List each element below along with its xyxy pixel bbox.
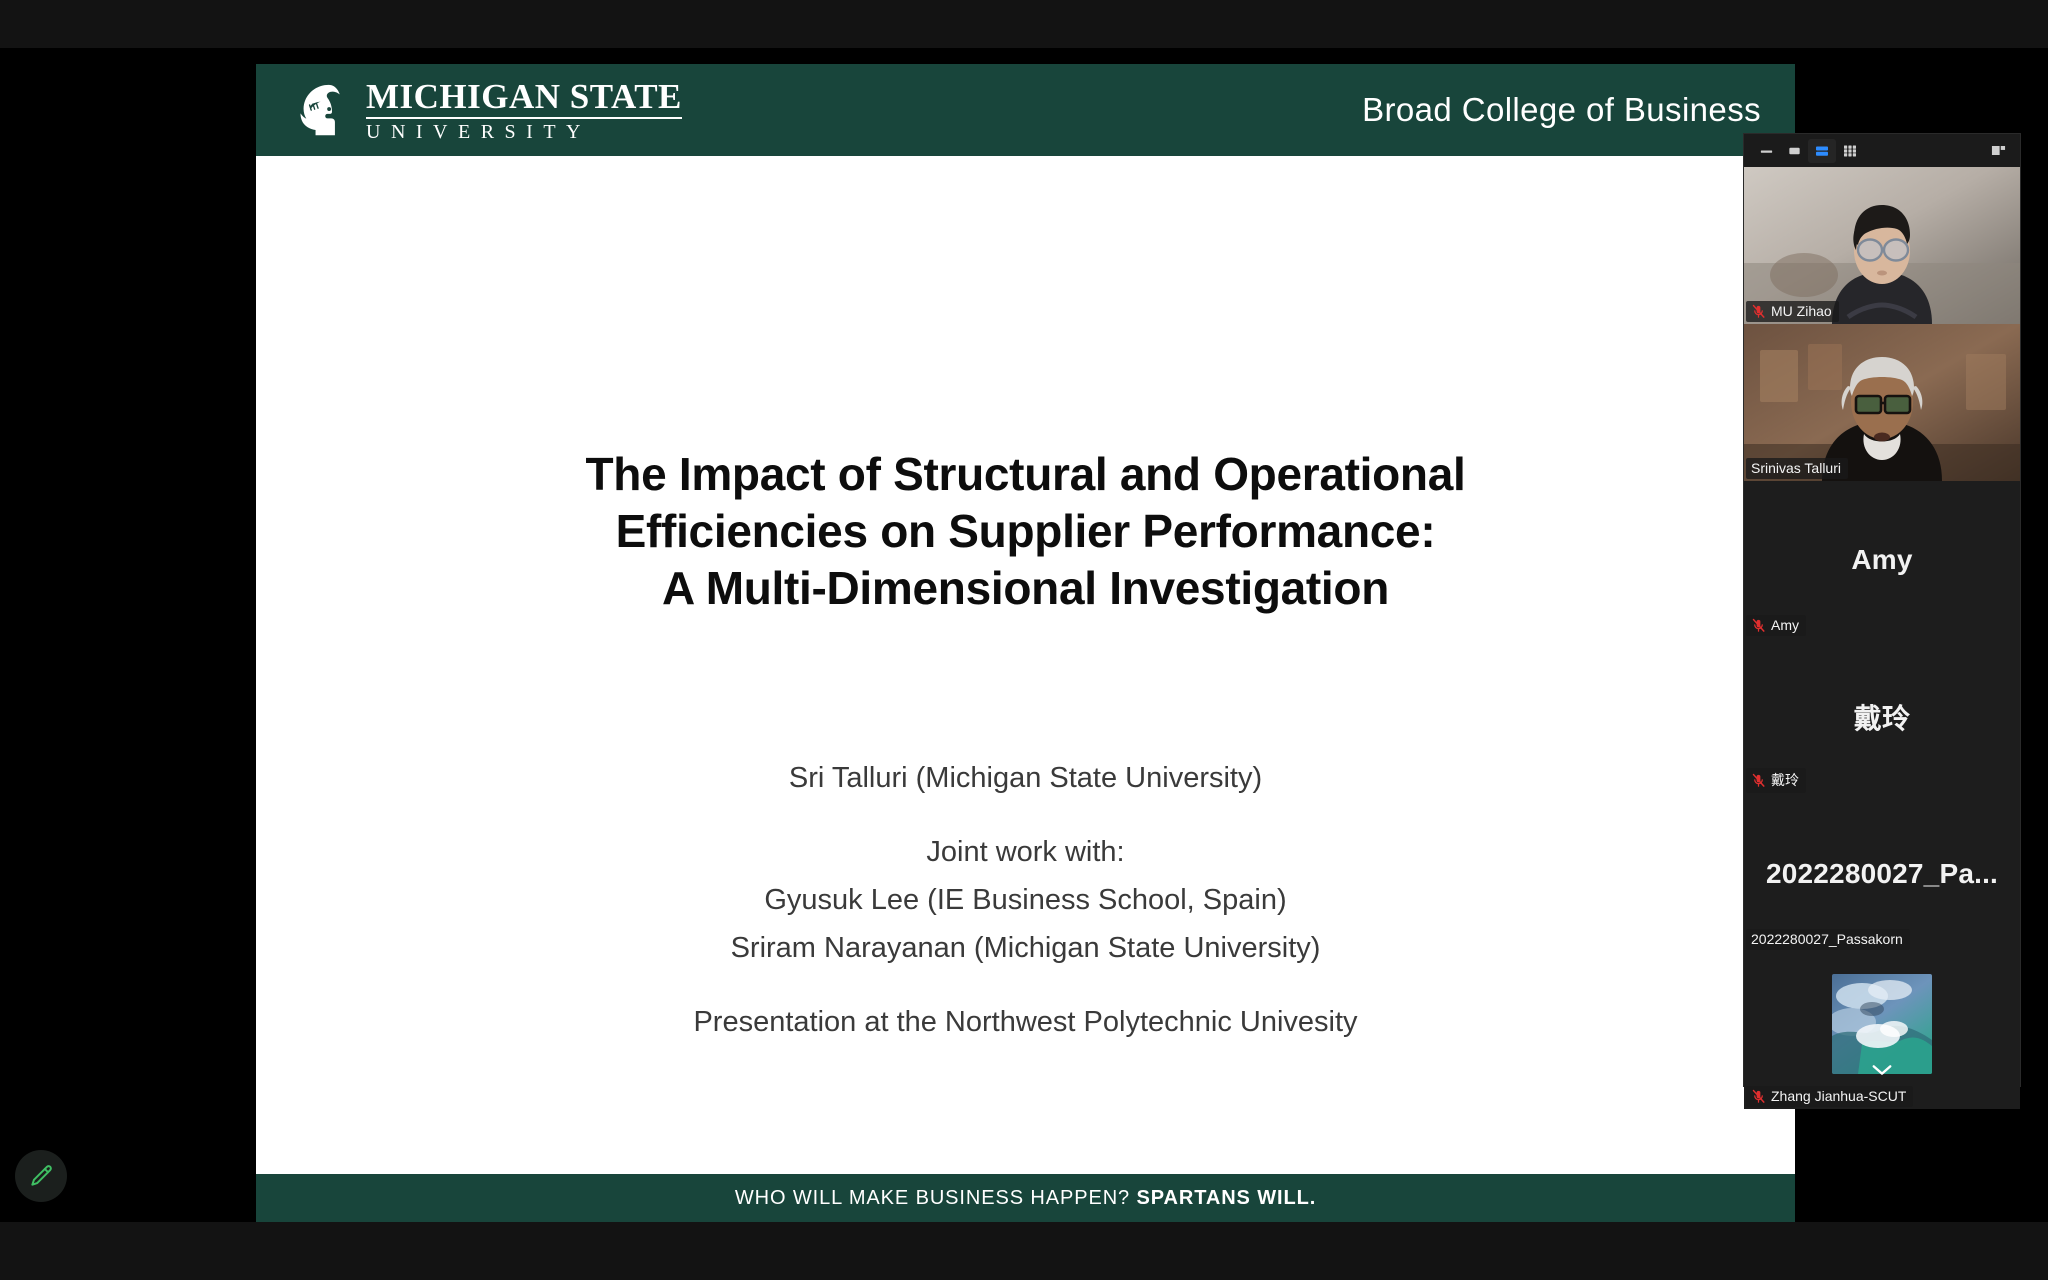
slide-metadata: Sri Talluri (Michigan State University) … (256, 764, 1795, 1056)
desktop-top-band (0, 0, 2048, 48)
slide-title-line-2: Efficiencies on Supplier Performance: (256, 503, 1795, 560)
speaker-view-button[interactable] (1808, 139, 1836, 163)
minimize-icon (1759, 143, 1774, 158)
meta-spacer-2 (256, 982, 1795, 1008)
gallery-view-icon (1842, 143, 1858, 159)
mic-muted-icon (1751, 773, 1766, 788)
participant-tile[interactable]: 2022280027_Pa... 2022280027_Passakorn (1744, 795, 2020, 952)
scroll-down-button[interactable] (1867, 1059, 1897, 1081)
chevron-down-icon (1871, 1063, 1893, 1077)
shared-slide: MICHIGAN STATE UNIVERSITY Broad College … (256, 64, 1795, 1222)
participant-name: Amy (1771, 617, 1799, 633)
participant-label: MU Zihao (1746, 301, 1839, 322)
footer-emphasis-text: SPARTANS WILL. (1137, 1187, 1317, 1209)
popout-view-button[interactable] (1984, 139, 2012, 163)
mic-muted-icon (1751, 1089, 1766, 1104)
slide-body: The Impact of Structural and Operational… (256, 156, 1795, 1174)
participant-name: MU Zihao (1771, 303, 1832, 319)
slide-title-line-3: A Multi-Dimensional Investigation (256, 560, 1795, 617)
participant-tile[interactable]: Amy Amy (1744, 481, 2020, 638)
mic-muted-icon (1751, 618, 1766, 633)
zoom-view-toolbar (1744, 134, 2020, 167)
meta-spacer-1 (256, 812, 1795, 838)
mic-muted-icon (1751, 304, 1766, 319)
zoom-participant-panel: MU Zihao (1744, 134, 2020, 1086)
screen-root: MICHIGAN STATE UNIVERSITY Broad College … (0, 0, 2048, 1280)
coauthor-line-2: Sriram Narayanan (Michigan State Univers… (256, 934, 1795, 982)
participant-name: Zhang Jianhua-SCUT (1771, 1088, 1906, 1104)
msu-divider-rule (366, 117, 682, 119)
slide-title-line-1: The Impact of Structural and Operational (256, 446, 1795, 503)
slide-title: The Impact of Structural and Operational… (256, 446, 1795, 617)
minimize-button[interactable] (1752, 139, 1780, 163)
college-title: Broad College of Business (1362, 91, 1761, 129)
popout-view-icon (1990, 143, 2007, 158)
participant-label: 2022280027_Passakorn (1746, 929, 1910, 950)
maximize-button[interactable] (1780, 139, 1808, 163)
spartan-helmet-icon (286, 79, 348, 141)
participant-name: 戴玲 (1771, 770, 1799, 790)
msu-name-bottom: UNIVERSITY (366, 122, 682, 142)
participant-tile[interactable]: Zhang Jianhua-SCUT (1744, 952, 2020, 1109)
coauthor-line-1: Gyusuk Lee (IE Business School, Spain) (256, 886, 1795, 934)
presenter-line: Sri Talluri (Michigan State University) (256, 764, 1795, 812)
footer-lead-text: WHO WILL MAKE BUSINESS HAPPEN? (735, 1187, 1137, 1209)
participant-name: Srinivas Talluri (1751, 460, 1841, 476)
msu-logo: MICHIGAN STATE UNIVERSITY (286, 79, 682, 142)
gallery-view-button[interactable] (1836, 139, 1864, 163)
slide-footer-text: WHO WILL MAKE BUSINESS HAPPEN? SPARTANS … (735, 1187, 1316, 1210)
speaker-view-icon (1814, 143, 1830, 159)
participant-tile[interactable]: 戴玲 戴玲 (1744, 638, 2020, 795)
participant-label: Amy (1746, 615, 1806, 636)
desktop-bottom-band (0, 1222, 2048, 1280)
participant-label: Srinivas Talluri (1746, 458, 1848, 479)
participant-label: Zhang Jianhua-SCUT (1746, 1086, 1913, 1107)
msu-wordmark: MICHIGAN STATE UNIVERSITY (366, 79, 682, 142)
annotation-pen-button[interactable] (15, 1150, 67, 1202)
joint-work-label: Joint work with: (256, 838, 1795, 886)
venue-line: Presentation at the Northwest Polytechni… (256, 1008, 1795, 1056)
slide-footer: WHO WILL MAKE BUSINESS HAPPEN? SPARTANS … (256, 1174, 1795, 1222)
participant-tile[interactable]: MU Zihao (1744, 167, 2020, 324)
maximize-icon (1787, 143, 1802, 158)
participant-tile[interactable]: Srinivas Talluri (1744, 324, 2020, 481)
participant-name: 2022280027_Passakorn (1751, 931, 1903, 947)
msu-name-top: MICHIGAN STATE (366, 79, 682, 114)
participant-label: 戴玲 (1746, 768, 1806, 793)
pen-icon (28, 1163, 54, 1189)
slide-header: MICHIGAN STATE UNIVERSITY Broad College … (256, 64, 1795, 156)
